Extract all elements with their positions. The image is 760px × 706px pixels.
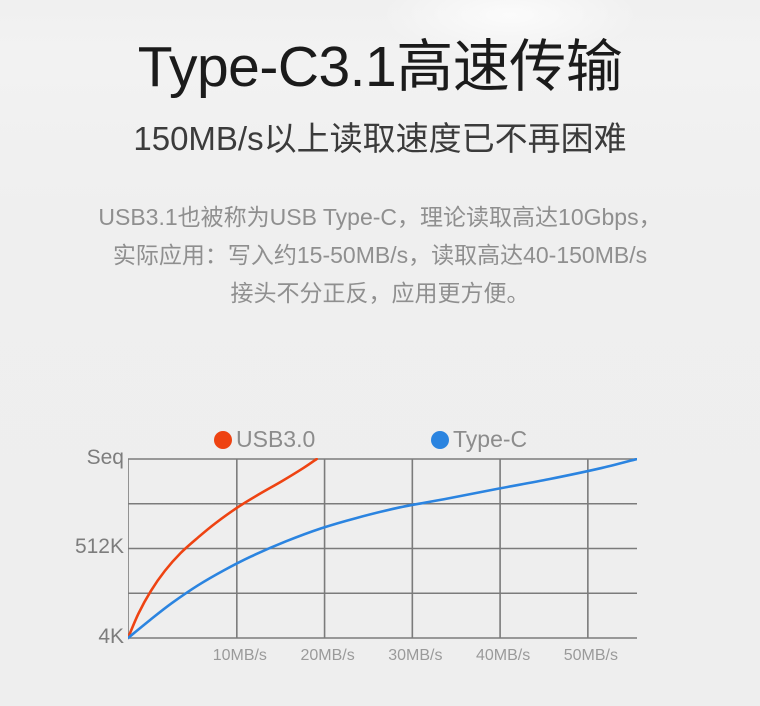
y-tick-seq: Seq bbox=[87, 447, 124, 468]
x-tick-2: 20MB/s bbox=[300, 647, 354, 665]
page-title: Type-C3.1高速传输 bbox=[0, 34, 760, 100]
page-subtitle: 150MB/s以上读取速度已不再困难 bbox=[0, 118, 760, 160]
y-tick-512k: 512K bbox=[75, 536, 124, 557]
legend-dot-usb30-icon bbox=[214, 431, 232, 449]
chart-x-axis-labels: 10MB/s20MB/s30MB/s40MB/s50MB/s bbox=[0, 647, 760, 671]
x-tick-3: 30MB/s bbox=[388, 647, 442, 665]
legend-item-usb30: USB3.0 bbox=[214, 428, 315, 451]
description-line-2: 实际应用：写入约15-50MB/s，读取高达40-150MB/s bbox=[0, 236, 760, 274]
promo-page: Type-C3.1高速传输 150MB/s以上读取速度已不再困难 USB3.1也… bbox=[0, 0, 760, 706]
chart-plot-area bbox=[128, 458, 637, 637]
description-block: USB3.1也被称为USB Type-C，理论读取高达10Gbps， 实际应用：… bbox=[0, 198, 760, 312]
x-tick-4: 40MB/s bbox=[476, 647, 530, 665]
chart-svg bbox=[128, 458, 637, 640]
y-tick-4k: 4K bbox=[98, 626, 124, 647]
legend-label-usb30: USB3.0 bbox=[236, 428, 315, 451]
description-line-1: USB3.1也被称为USB Type-C，理论读取高达10Gbps， bbox=[0, 198, 760, 236]
chart-y-axis-labels: Seq 512K 4K bbox=[0, 458, 124, 640]
legend-label-typec: Type-C bbox=[453, 428, 527, 451]
legend-dot-typec-icon bbox=[431, 431, 449, 449]
legend-item-typec: Type-C bbox=[431, 428, 527, 451]
x-tick-1: 10MB/s bbox=[213, 647, 267, 665]
grid-horizontal-lines bbox=[128, 459, 637, 638]
speed-comparison-chart: USB3.0 Type-C Seq 512K 4K 10MB/s20MB/s30… bbox=[0, 415, 760, 680]
description-line-3: 接头不分正反，应用更方便。 bbox=[0, 274, 760, 312]
x-tick-5: 50MB/s bbox=[564, 647, 618, 665]
